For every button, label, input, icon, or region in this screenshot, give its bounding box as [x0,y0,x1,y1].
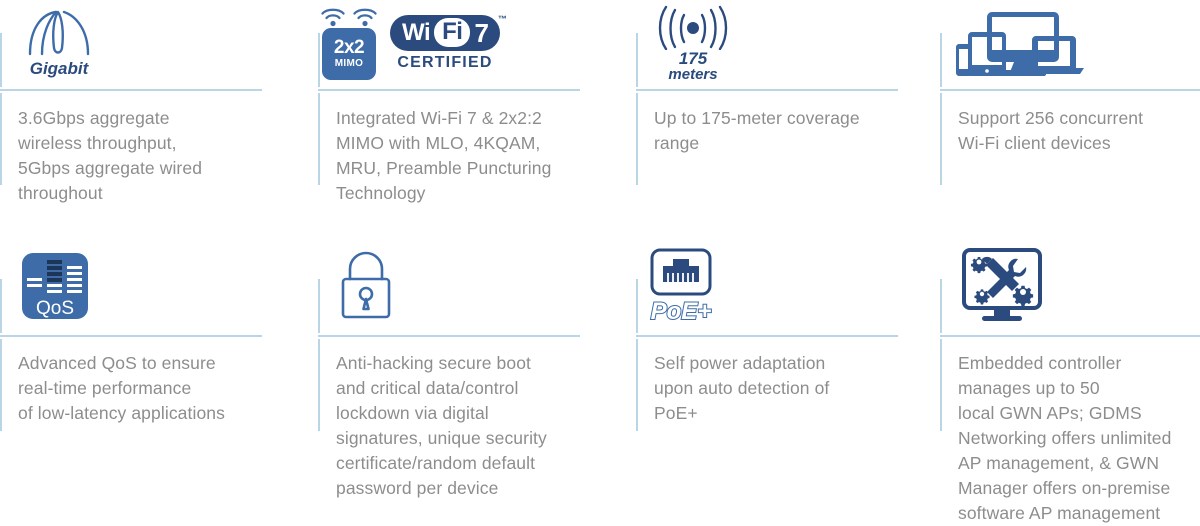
card-divider [636,335,898,337]
management-console-icon [960,247,1044,325]
card-divider [318,335,580,337]
coverage-distance-label: 175 [679,50,707,67]
icon-area: PoE+ [650,243,712,329]
wifi7-certified-icon: Wi Fi 7 ™ CERTIFIED [390,15,500,72]
padlock-icon [334,249,398,323]
card-rail-bottom [318,93,320,185]
card-rail-bottom [940,93,942,185]
feature-description: 3.6Gbps aggregate wireless throughput, 5… [18,106,286,206]
wifi-arcs-icon [320,7,378,27]
card-divider [318,89,580,91]
card-rail-bottom [940,339,942,431]
coverage-unit-label: meters [668,67,717,83]
feature-description: Embedded controller manages up to 50 loc… [958,351,1200,526]
card-rail-top [0,33,2,87]
gigabit-icon-label: Gigabit [30,59,89,78]
mimo-badge-icon: 2x2 MIMO [320,7,378,80]
gigabit-speed-icon: Gigabit [20,8,98,78]
multi-device-icon [956,6,1086,80]
icon-area [334,243,398,329]
coverage-range-icon: 175 meters [654,4,732,83]
card-rail-bottom [318,339,320,431]
card-rail-bottom [636,339,638,431]
card-divider [940,335,1200,337]
card-divider [636,89,898,91]
card-rail-bottom [0,339,2,431]
feature-description: Anti-hacking secure boot and critical da… [336,351,604,501]
qos-equalizer-icon: QoS [22,253,88,319]
icon-area [956,0,1086,86]
feature-description: Self power adaptation upon auto detectio… [654,351,922,426]
icon-area: 2x2 MIMO Wi Fi 7 ™ CERTIFIED [320,0,500,86]
icon-area [960,243,1044,329]
card-rail-bottom [0,93,2,185]
feature-description: Support 256 concurrent Wi-Fi client devi… [958,106,1200,156]
feature-description: Advanced QoS to ensure real-time perform… [18,351,286,426]
card-rail-bottom [636,93,638,185]
icon-area: Gigabit [20,0,98,86]
icon-area: QoS [22,243,88,329]
feature-description: Integrated Wi-Fi 7 & 2x2:2 MIMO with MLO… [336,106,604,206]
card-divider [940,89,1200,91]
card-rail-top [318,279,320,333]
wifi7-wi-text: Wi [402,21,430,45]
card-rail-top [636,279,638,333]
card-rail-top [940,33,942,87]
wifi7-version-text: 7 [474,20,488,46]
feature-description: Up to 175-meter coverage range [654,106,922,156]
wifi7-fi-text: Fi [434,18,470,47]
trademark-icon: ™ [498,14,507,24]
icon-area: 175 meters [654,0,732,86]
wifi7-logo-pill: Wi Fi 7 ™ [390,15,500,51]
qos-label: QoS [36,299,74,319]
poe-label: PoE+ [651,299,712,325]
card-rail-top [940,279,942,333]
wifi7-certified-text: CERTIFIED [397,54,492,72]
mimo-badge-box: 2x2 MIMO [322,28,376,80]
card-divider [0,335,262,337]
feature-grid: Gigabit 3.6Gbps aggregate wireless throu… [0,0,1200,501]
card-rail-top [0,279,2,333]
mimo-ratio-label: 2x2 [334,38,364,58]
rj45-port-icon [650,248,712,296]
card-rail-top [636,33,638,87]
mimo-label: MIMO [335,58,363,70]
card-divider [0,89,262,91]
rj45-poe-icon: PoE+ [650,248,712,325]
